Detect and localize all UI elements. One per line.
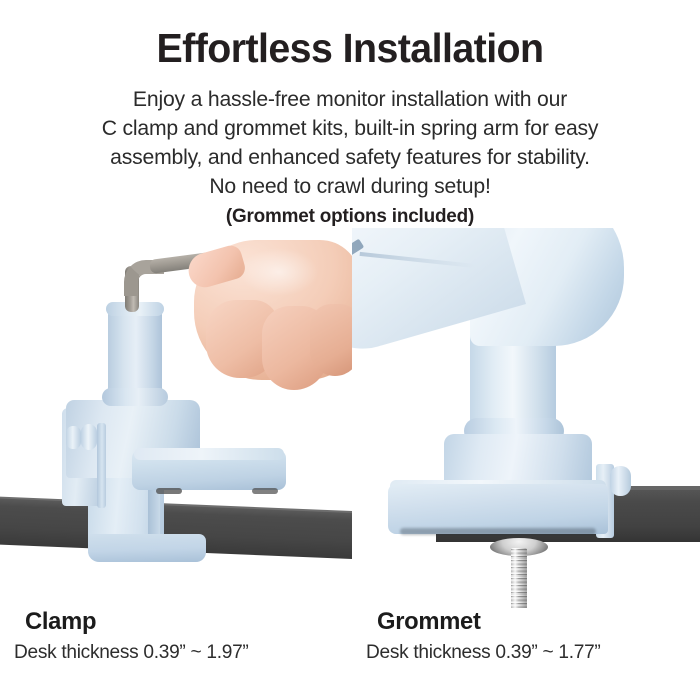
product-feature-image: Effortless Installation Enjoy a hassle-f… <box>0 0 700 700</box>
arm-notch <box>352 239 364 282</box>
clamp-fin <box>97 423 106 508</box>
header-block: Effortless Installation Enjoy a hassle-f… <box>0 0 700 228</box>
clamp-bracket-jaw <box>88 534 206 562</box>
clamp-spec: Desk thickness 0.39” ~ 1.97” <box>14 641 248 664</box>
subtitle-line-1: Enjoy a hassle-free monitor installation… <box>5 85 695 114</box>
hand-icon <box>186 228 352 398</box>
clamp-pad-2 <box>252 488 278 494</box>
subtitle-line-4: No need to crawl during setup! <box>5 172 695 201</box>
grommet-base-plate <box>388 484 608 534</box>
grommet-options-note: (Grommet options included) <box>11 205 690 228</box>
arm-crease <box>360 252 476 268</box>
bolt-sheen <box>511 548 527 608</box>
clamp-shelf-top <box>134 448 284 460</box>
footer-item-clamp: Clamp Desk thickness 0.39” ~ 1.97” <box>14 608 253 664</box>
footer-labels: Clamp Desk thickness 0.39” ~ 1.97” Gromm… <box>0 608 700 700</box>
clamp-photo-panel <box>0 228 352 608</box>
grommet-peg <box>610 466 631 496</box>
clamp-knob-2 <box>81 424 97 450</box>
subtitle-line-2: C clamp and grommet kits, built-in sprin… <box>5 114 695 143</box>
subtitle-line-3: assembly, and enhanced safety features f… <box>5 143 695 172</box>
grommet-base-shadow <box>400 528 596 535</box>
grommet-label: Grommet <box>377 608 598 637</box>
clamp-knob-1 <box>66 426 81 449</box>
page-title: Effortless Installation <box>14 26 686 72</box>
clamp-label: Clamp <box>25 608 246 637</box>
grommet-photo-panel <box>352 228 700 608</box>
subtitle-paragraph: Enjoy a hassle-free monitor installation… <box>5 85 695 201</box>
product-photo-stage <box>0 228 700 608</box>
footer-item-grommet: Grommet Desk thickness 0.39” ~ 1.77” <box>366 608 605 664</box>
grommet-spec: Desk thickness 0.39” ~ 1.77” <box>366 641 600 664</box>
hand-knuckle-3 <box>310 304 352 376</box>
hand-highlight <box>240 248 318 296</box>
clamp-pad-1 <box>156 488 182 494</box>
clamp-post-ring <box>102 388 168 406</box>
